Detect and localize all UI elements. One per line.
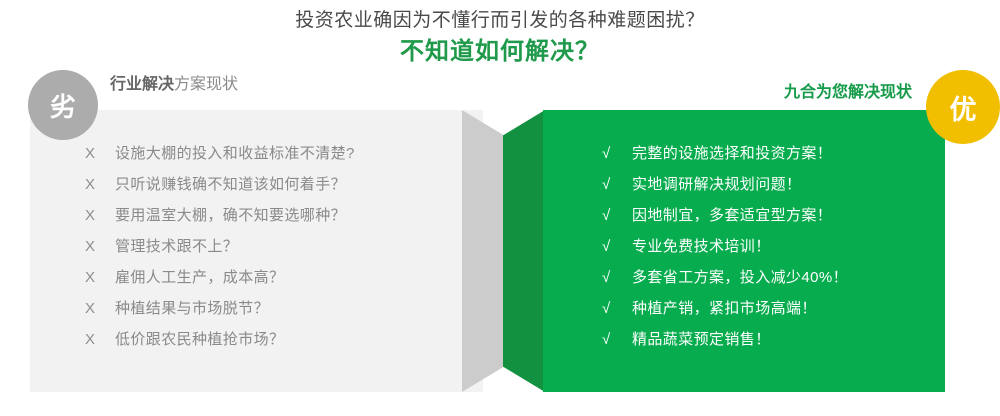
chevron-fold-green [503,110,545,392]
list-item: √ 多套省工方案，投入减少40%！ [602,266,942,297]
list-item-label: 管理技术跟不上？ [115,235,238,256]
list-item-label: 种植产销，紧扣市场高端！ [632,297,817,318]
badge-good: 优 [926,70,1000,144]
list-item-label: 种植结果与市场脱节？ [115,297,269,318]
list-item-label: 完整的设施选择和投资方案！ [632,142,832,163]
headline-block: 投资农业确因为不懂行而引发的各种难题困扰？ 不知道如何解决？ [0,8,1000,68]
list-item: X 低价跟农民种植抢市场？ [85,328,445,359]
list-item: X 雇佣人工生产，成本高？ [85,266,445,297]
list-item-label: 多套省工方案，投入减少40%！ [632,266,848,287]
list-item: X 要用温室大棚，确不知要选哪种？ [85,204,445,235]
left-section-title: 行业解决方案现状 [110,70,238,94]
cross-icon: X [85,300,115,317]
badge-good-label: 优 [950,88,977,127]
list-item: √ 专业免费技术培训！ [602,235,942,266]
list-item: √ 种植产销，紧扣市场高端！ [602,297,942,328]
list-item-label: 要用温室大棚，确不知要选哪种？ [115,204,346,225]
list-item: X 种植结果与市场脱节？ [85,297,445,328]
left-section-title-rest: 方案现状 [174,76,238,93]
badge-bad-label: 劣 [50,87,76,124]
chevron-fold-gray [462,110,504,392]
cross-icon: X [85,207,115,224]
list-item: √ 精品蔬菜预定销售！ [602,328,942,359]
list-item: √ 完整的设施选择和投资方案！ [602,142,942,173]
comparison-infographic: 投资农业确因为不懂行而引发的各种难题困扰？ 不知道如何解决？ 行业解决方案现状 … [0,0,1000,416]
list-item-label: 只听说赚钱确不知道该如何着手？ [115,173,346,194]
check-icon: √ [602,238,632,255]
cross-icon: X [85,238,115,255]
cross-icon: X [85,269,115,286]
check-icon: √ [602,331,632,348]
cross-icon: X [85,145,115,162]
list-item-label: 设施大棚的投入和收益标准不清楚? [115,142,355,163]
right-section-title: 九合为您解决现状 [784,78,912,102]
list-item-label: 专业免费技术培训！ [632,235,771,256]
list-item: X 管理技术跟不上？ [85,235,445,266]
check-icon: √ [602,207,632,224]
check-icon: √ [602,300,632,317]
headline-line-2: 不知道如何解决？ [0,36,1000,68]
list-item-label: 低价跟农民种植抢市场？ [115,328,284,349]
list-item-label: 实地调研解决规划问题！ [632,173,801,194]
cross-icon: X [85,331,115,348]
list-item: √ 实地调研解决规划问题！ [602,173,942,204]
check-icon: √ [602,145,632,162]
cross-icon: X [85,176,115,193]
list-item: X 设施大棚的投入和收益标准不清楚? [85,142,445,173]
badge-bad: 劣 [28,70,98,140]
list-item-label: 因地制宜，多套适宜型方案！ [632,204,832,225]
check-icon: √ [602,269,632,286]
left-problem-list: X 设施大棚的投入和收益标准不清楚? X 只听说赚钱确不知道该如何着手？ X 要… [85,142,445,359]
headline-line-1: 投资农业确因为不懂行而引发的各种难题困扰？ [0,8,1000,34]
right-solution-list: √ 完整的设施选择和投资方案！ √ 实地调研解决规划问题！ √ 因地制宜，多套适… [602,142,942,359]
list-item-label: 精品蔬菜预定销售！ [632,328,771,349]
list-item-label: 雇佣人工生产，成本高？ [115,266,284,287]
check-icon: √ [602,176,632,193]
list-item: X 只听说赚钱确不知道该如何着手？ [85,173,445,204]
left-section-title-bold: 行业解决 [110,76,174,93]
list-item: √ 因地制宜，多套适宜型方案！ [602,204,942,235]
